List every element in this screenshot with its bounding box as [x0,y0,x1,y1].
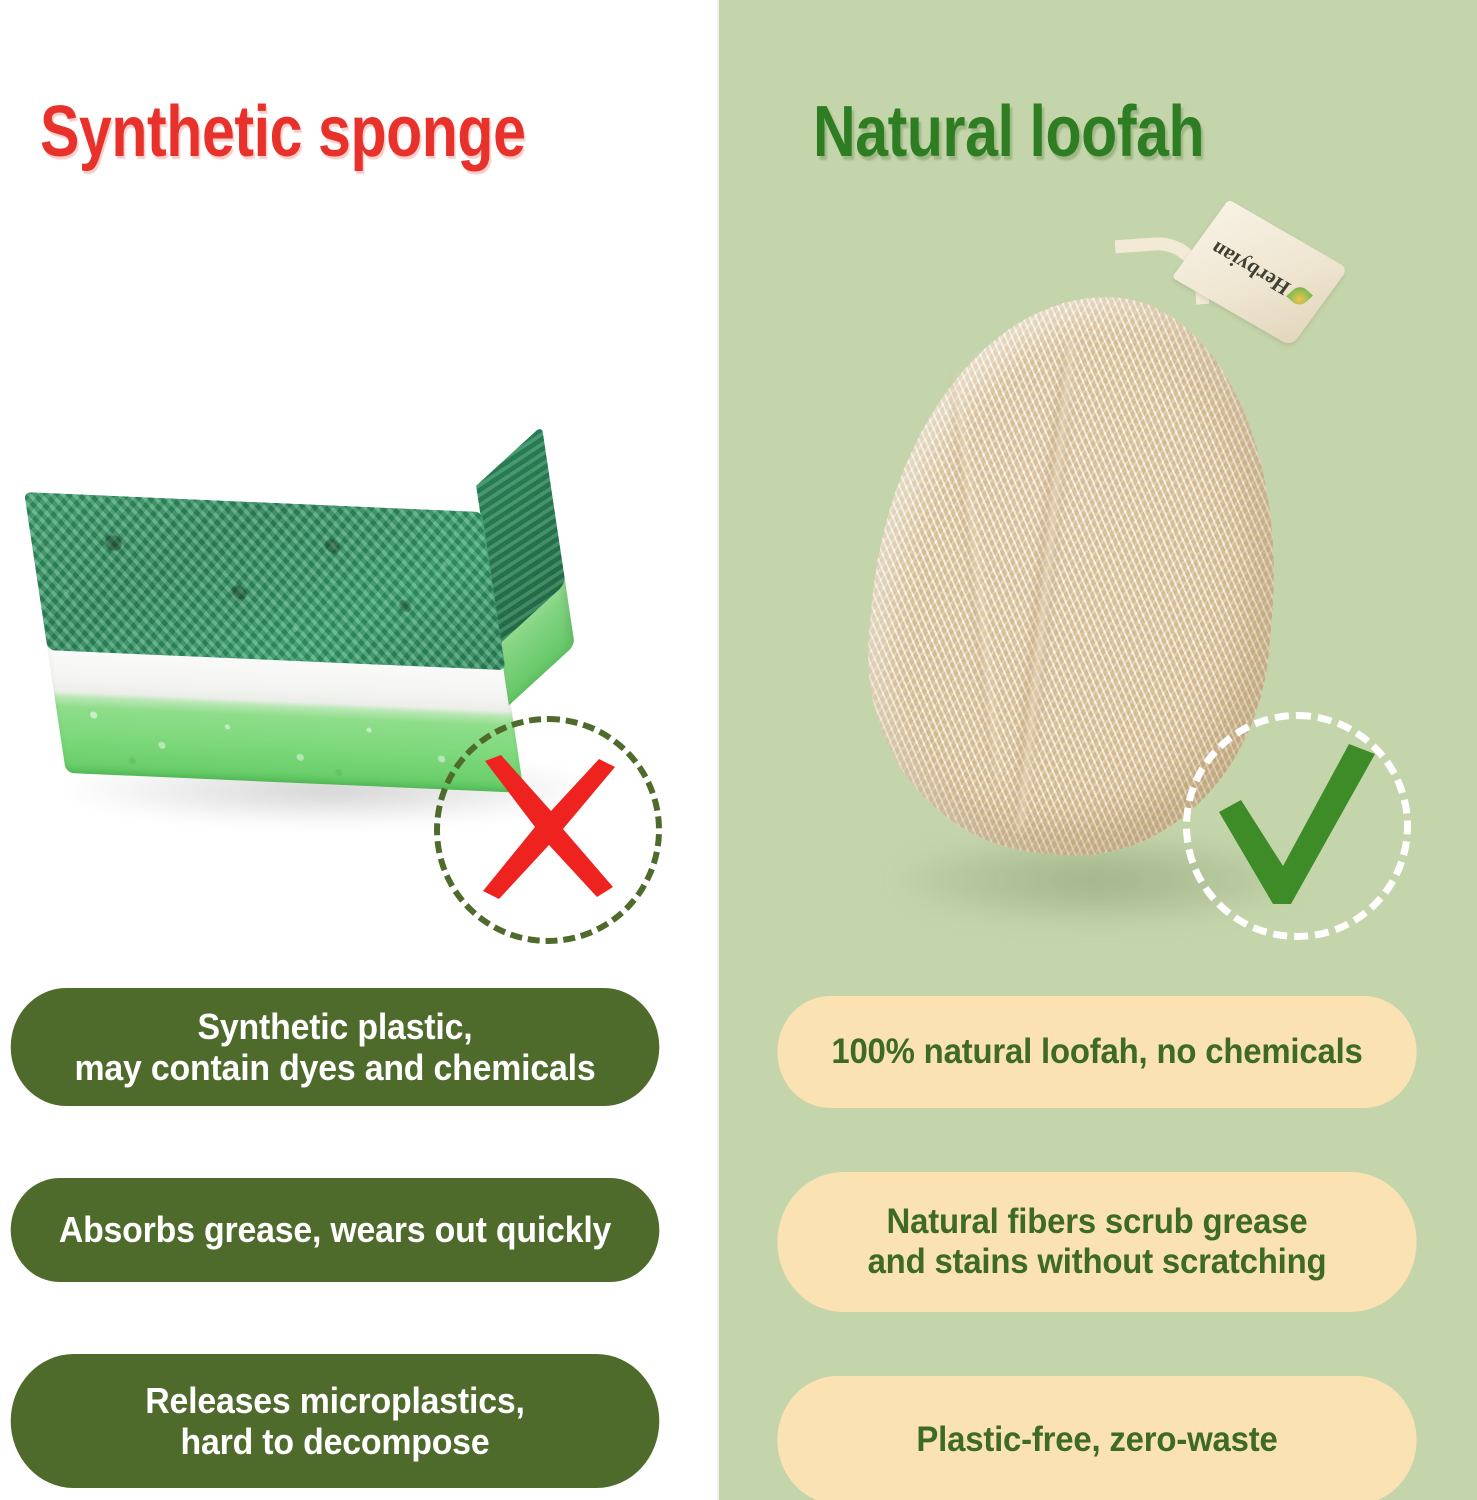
brand-name: Herbyian [1206,236,1296,300]
verdict-badge-check [1183,712,1411,940]
benefit-list: 100% natural loofah, no chemicals Natura… [757,996,1437,1500]
list-item: Natural fibers scrub grease and stains w… [777,1172,1416,1312]
cross-mark-icon [463,745,633,915]
comparison-infographic: Synthetic sponge Synthetic plastic, may … [0,0,1477,1500]
panel-natural-loofah: Natural loofah Herbyian 100% natural loo… [717,0,1477,1500]
list-item: 100% natural loofah, no chemicals [777,996,1416,1108]
drawback-list: Synthetic plastic, may contain dyes and … [0,988,680,1488]
list-item: Releases microplastics, hard to decompos… [11,1354,660,1488]
verdict-badge-cross [434,716,662,944]
check-mark-icon [1207,736,1387,916]
page-title-right: Natural loofah [813,96,1204,168]
sponge-scrub-pad-top [24,492,506,670]
list-item: Synthetic plastic, may contain dyes and … [11,988,660,1106]
panel-divider [717,0,719,1500]
page-title-left: Synthetic sponge [40,96,526,168]
panel-synthetic-sponge: Synthetic sponge Synthetic plastic, may … [0,0,717,1500]
list-item: Absorbs grease, wears out quickly [11,1178,660,1282]
brand-tag: Herbyian [1172,199,1348,346]
list-item: Plastic-free, zero-waste [777,1376,1416,1500]
brand-tag-content: Herbyian [1206,236,1315,311]
